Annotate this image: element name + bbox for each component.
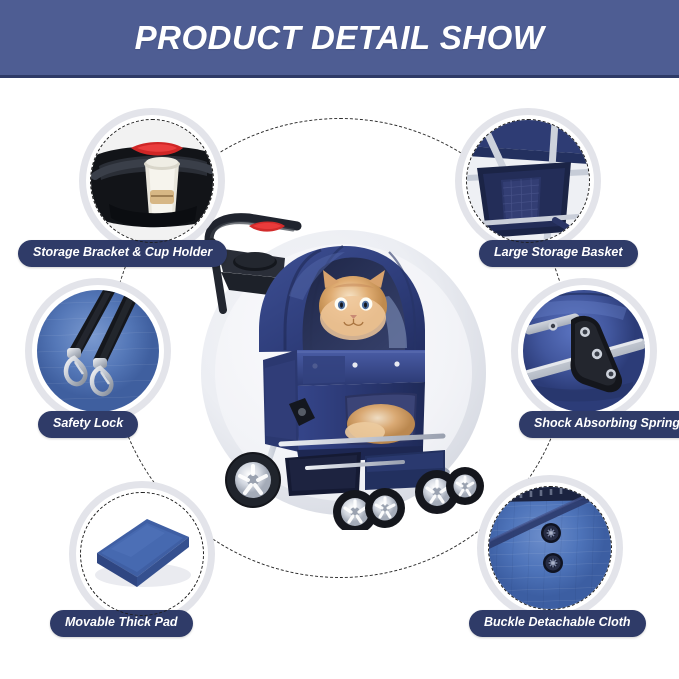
callout-buckle-detachable-cloth[interactable]	[484, 482, 616, 614]
label-storage-bracket-cup-holder[interactable]: Storage Bracket & Cup Holder	[18, 240, 227, 267]
header-banner: PRODUCT DETAIL SHOW	[0, 0, 679, 78]
callout-shock-absorbing-spring[interactable]	[518, 285, 650, 417]
callout-photo-buckle-cloth	[489, 487, 611, 609]
callout-large-storage-basket[interactable]	[462, 115, 594, 247]
callout-photo-storage-bracket	[91, 120, 213, 242]
callout-photo-shock-spring	[523, 290, 645, 412]
callout-photo-thick-pad	[81, 493, 203, 615]
label-shock-absorbing-spring[interactable]: Shock Absorbing Spring	[519, 411, 679, 438]
callout-movable-thick-pad[interactable]	[76, 488, 208, 620]
callout-storage-bracket-cup-holder[interactable]	[86, 115, 218, 247]
callout-safety-lock[interactable]	[32, 285, 164, 417]
label-large-storage-basket[interactable]: Large Storage Basket	[479, 240, 638, 267]
label-buckle-detachable-cloth[interactable]: Buckle Detachable Cloth	[469, 610, 646, 637]
page-title: PRODUCT DETAIL SHOW	[0, 19, 679, 57]
product-detail-page: PRODUCT DETAIL SHOW	[0, 0, 679, 679]
callout-photo-safety-lock	[37, 290, 159, 412]
label-movable-thick-pad[interactable]: Movable Thick Pad	[50, 610, 193, 637]
label-safety-lock[interactable]: Safety Lock	[38, 411, 138, 438]
stroller-illustration	[193, 200, 493, 530]
callout-photo-storage-basket	[467, 120, 589, 242]
center-product-image	[193, 200, 493, 530]
